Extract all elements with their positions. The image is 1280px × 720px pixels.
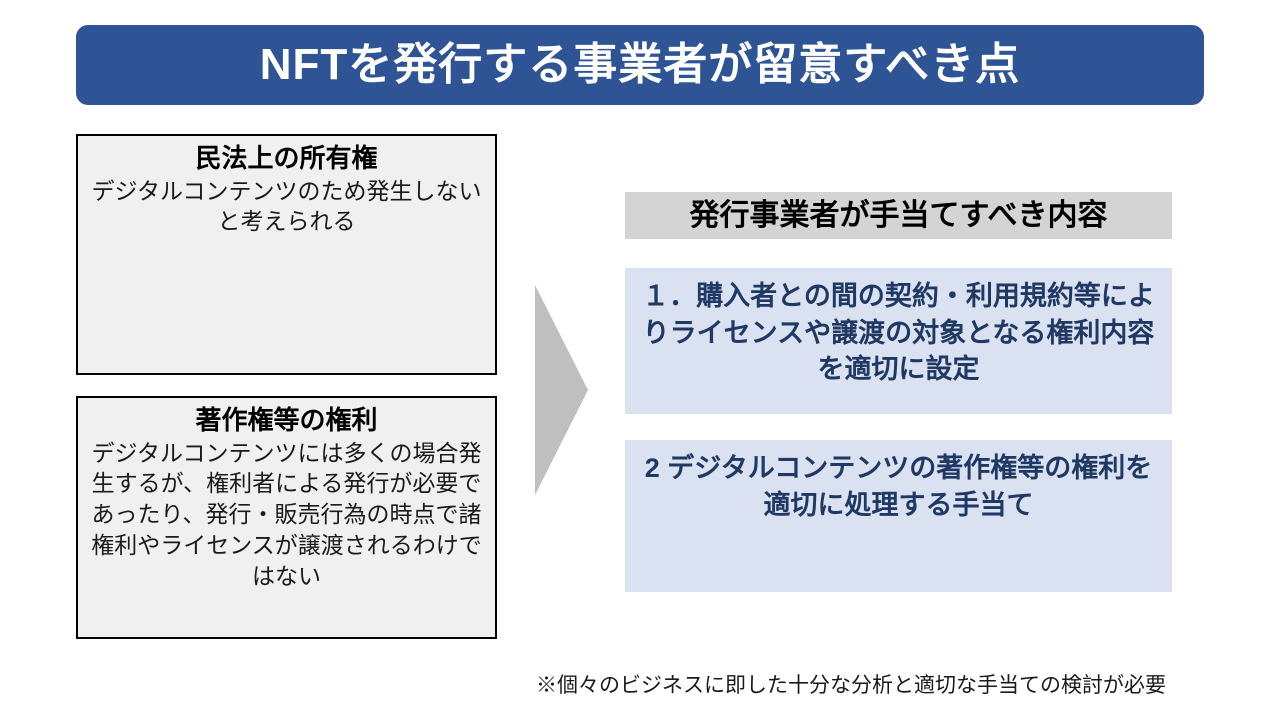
issue-card-body: デジタルコンテンツには多くの場合発生するが、権利者による発行が必要であったり、発… [88,439,485,593]
flow-arrow [520,275,600,505]
slide-title-banner: NFTを発行する事業者が留意すべき点 [76,25,1204,105]
page-title: NFTを発行する事業者が留意すべき点 [260,43,1020,87]
measures-header-label: 発行事業者が手当てすべき内容 [690,201,1108,231]
issue-card-body: デジタルコンテンツのため発生しないと考えられる [88,177,485,239]
measure-card-2: 2 デジタルコンテンツの著作権等の権利を適切に処理する手当て [625,440,1172,592]
measure-card-text: 2 デジタルコンテンツの著作権等の権利を適切に処理する手当て [637,450,1160,523]
measure-card-1: １．購入者との間の契約・利用規約等によりライセンスや譲渡の対象となる権利内容を適… [625,268,1172,414]
issue-card-copyright: 著作権等の権利 デジタルコンテンツには多くの場合発生するが、権利者による発行が必… [76,396,497,639]
right-arrow-icon [520,275,600,505]
issue-card-ownership: 民法上の所有権 デジタルコンテンツのため発生しないと考えられる [76,134,497,375]
slide-canvas: NFTを発行する事業者が留意すべき点 民法上の所有権 デジタルコンテンツのため発… [0,0,1280,720]
footer-note: ※個々のビジネスに即した十分な分析と適切な手当ての検討が必要 [536,672,1266,699]
measures-header-bar: 発行事業者が手当てすべき内容 [625,192,1172,239]
issue-card-heading: 著作権等の権利 [88,404,485,437]
issue-card-heading: 民法上の所有権 [88,142,485,175]
measure-card-text: １．購入者との間の契約・利用規約等によりライセンスや譲渡の対象となる権利内容を適… [637,278,1160,388]
